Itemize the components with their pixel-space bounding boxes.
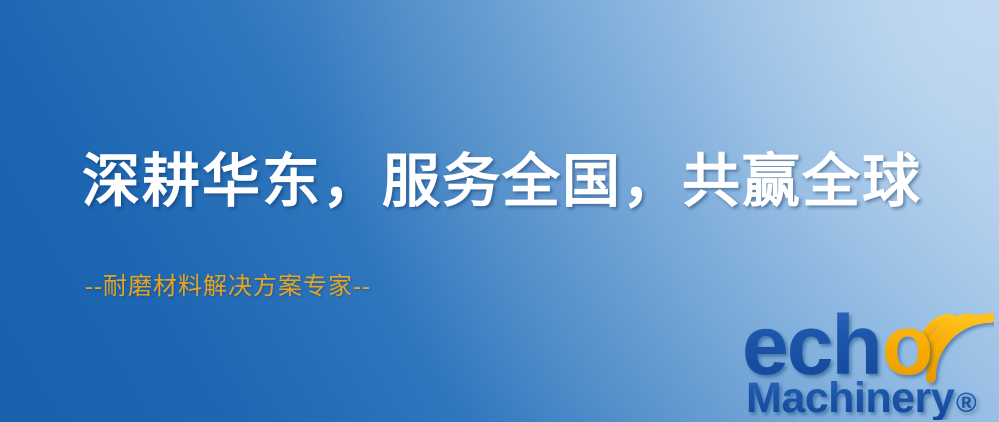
echo-machinery-logo[interactable]: ech o Machinery ®	[742, 292, 994, 420]
banner-subtitle: --耐磨材料解决方案专家--	[85, 266, 371, 301]
logo-tagline: Machinery	[746, 374, 955, 420]
banner-headline: 深耕华东，服务全国，共赢全球	[82, 152, 922, 213]
logo-trademark-symbol: ®	[956, 387, 977, 418]
signal-arcs-icon	[925, 318, 991, 378]
hero-banner: 深耕华东，服务全国，共赢全球 --耐磨材料解决方案专家--	[0, 0, 999, 422]
